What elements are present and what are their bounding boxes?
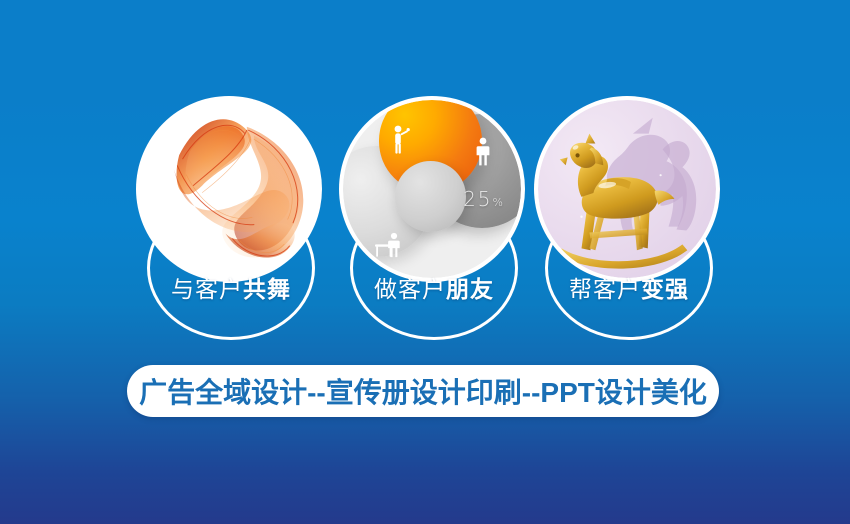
photo-circle-1	[140, 100, 318, 278]
photo-circle-2: 25%	[343, 100, 521, 278]
tagline-text: 广告全域设计--宣传册设计印刷--PPT设计美化	[139, 371, 707, 411]
desk-worker-icon	[373, 232, 407, 258]
feature-label-1-thin: 与客户	[171, 276, 243, 302]
photo-artwork-smoke	[140, 100, 318, 278]
feature-label-2-thin: 做客户	[374, 276, 446, 302]
feature-label-2-bold: 朋友	[446, 276, 494, 302]
infographic-blob-center	[395, 161, 466, 232]
feature-group-3: 帮客户变强	[534, 100, 724, 340]
stat-percent: 25%	[463, 187, 505, 211]
feature-label-3-bold: 变强	[641, 276, 689, 302]
feature-label-1: 与客户共舞	[136, 270, 326, 304]
feature-label-2: 做客户朋友	[339, 270, 529, 304]
person-icon	[473, 137, 493, 167]
photo-artwork-infographic: 25%	[343, 100, 521, 278]
stat-value: 25	[463, 187, 492, 211]
feature-group-2: 25% 做客户朋友	[339, 100, 529, 340]
tagline-banner: 广告全域设计--宣传册设计印刷--PPT设计美化	[127, 365, 719, 417]
feature-label-1-bold: 共舞	[243, 276, 291, 302]
poster-canvas: 与客户共舞	[0, 0, 850, 524]
stat-unit: %	[493, 196, 505, 209]
presenter-icon	[389, 125, 411, 155]
feature-label-3: 帮客户变强	[534, 270, 724, 304]
photo-artwork-rocking-horse	[538, 100, 716, 278]
photo-circle-3	[538, 100, 716, 278]
feature-group-1: 与客户共舞	[136, 100, 326, 340]
feature-label-3-thin: 帮客户	[569, 276, 641, 302]
